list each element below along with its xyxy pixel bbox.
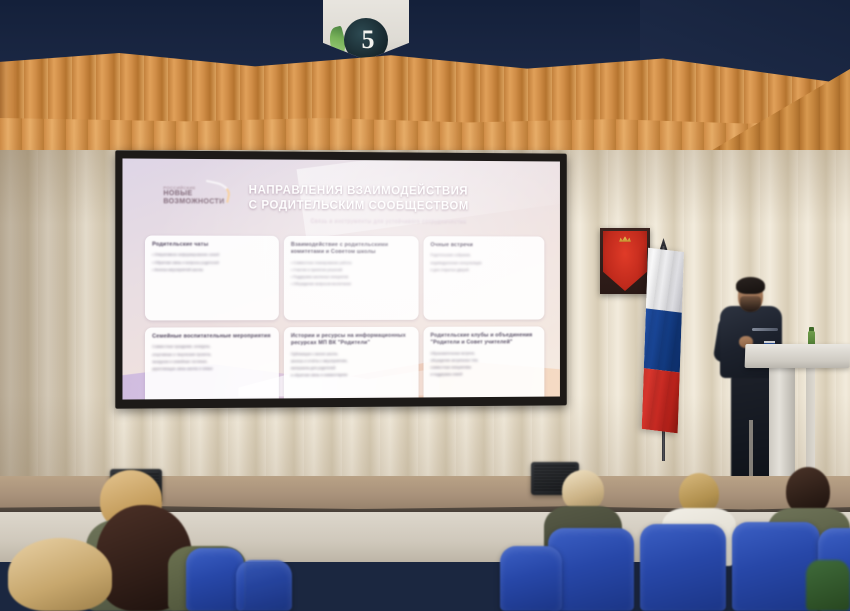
slide-subtitle: Связь и инструменты для устойчивого сотр… [249,218,527,225]
audience-torso [806,560,850,611]
speaker-hair [736,277,765,294]
card-line: Совместные праздники, конкурсы, [152,345,272,351]
audience-head [562,470,604,511]
speaker-beard [740,296,761,312]
slide-card: Родительские клубы и объединения "Родите… [424,326,545,399]
card-line: спортивные и творческие проекты, [152,352,272,358]
card-line: • Участие в принятии решений [291,268,412,273]
card-line: Публикации о жизни школы, [291,351,412,357]
card-heading: Родительские клубы и объединения "Родите… [430,332,537,347]
card-line: • Обратная связь и вопросы родителей [152,260,272,265]
card-line: • Анонсы мероприятий школы [152,268,272,273]
photo-scene: 5 РОССИЙСКИЕ НОВЫЕ ВОЗМОЖНОСТИ НАПРАВЛЕН… [0,0,850,611]
coat-of-arms-shield [603,231,647,291]
card-line: и дни открытых дверей [430,268,537,273]
emblem-number: 5 [362,27,375,53]
card-line: экскурсии и семейные гостиные, [152,359,272,365]
card-line: укрепляющие связь школы и семьи [152,366,272,372]
slide-card: Истории и ресурсы на информационных ресу… [284,327,419,400]
card-line: Родительские собрания, [430,253,537,258]
slide-card: Родительские чаты • Оперативное информир… [145,235,279,320]
slide-logo: РОССИЙСКИЕ НОВЫЕ ВОЗМОЖНОСТИ [163,185,226,207]
card-heading: Очные встречи [430,242,537,249]
card-line: • Обсуждение вопросов воспитания [291,282,412,287]
card-line: Образовательные встречи, [430,351,537,357]
coat-of-arms-icon [600,228,650,294]
speaker-jacket-stripe [752,328,778,331]
podium-desktop [745,344,850,368]
card-heading: Истории и ресурсы на информационных ресу… [291,333,412,348]
card-line: и поддержка семей [430,372,537,378]
card-line: • Оперативное информирование семей [152,253,272,258]
slide-title: НАПРАВЛЕНИЯ ВЗАИМОДЕЙСТВИЯ С РОДИТЕЛЬСКИ… [249,183,517,214]
card-line: и обратная связь в комментариях [291,373,412,379]
card-heading: Семейные воспитательные мероприятия [152,333,272,341]
projection-screen: РОССИЙСКИЕ НОВЫЕ ВОЗМОЖНОСТИ НАПРАВЛЕНИЯ… [122,158,559,399]
card-line: анонсы и отчёты о мероприятиях, [291,359,412,365]
card-heading: Взаимодействие с родительскими комитетам… [291,242,412,257]
audience-seat [640,524,726,611]
slide-title-line1: НАПРАВЛЕНИЯ ВЗАИМОДЕЙСТВИЯ [249,183,517,199]
card-line: • Поддержка школьных инициатив [291,275,412,280]
double-headed-eagle-icon [608,242,642,276]
card-line: • Совместное планирование работы [291,261,412,266]
slide-card: Взаимодействие с родительскими комитетам… [284,236,419,320]
slide-card: Очные встречи Родительские собрания, инд… [424,236,545,320]
flag-folds [642,248,684,434]
slide-card-grid: Родительские чаты • Оперативное информир… [145,235,542,399]
slide-card: Семейные воспитательные мероприятия Совм… [145,327,279,399]
card-line: индивидуальные консультации [430,261,537,266]
audience-seat [236,560,292,611]
slide-title-line2: С РОДИТЕЛЬСКИМ СООБЩЕСТВОМ [249,198,517,214]
card-line: материалы для родителей [291,366,412,372]
card-heading: Родительские чаты [152,242,272,250]
audience-head [8,538,112,611]
card-line: совместные инициативы [430,365,537,371]
card-line: обсуждение актуальных тем, [430,358,537,364]
russian-flag [642,248,684,434]
projection-screen-frame: РОССИЙСКИЕ НОВЫЕ ВОЗМОЖНОСТИ НАПРАВЛЕНИЯ… [115,150,566,408]
audience-seat [500,546,562,611]
